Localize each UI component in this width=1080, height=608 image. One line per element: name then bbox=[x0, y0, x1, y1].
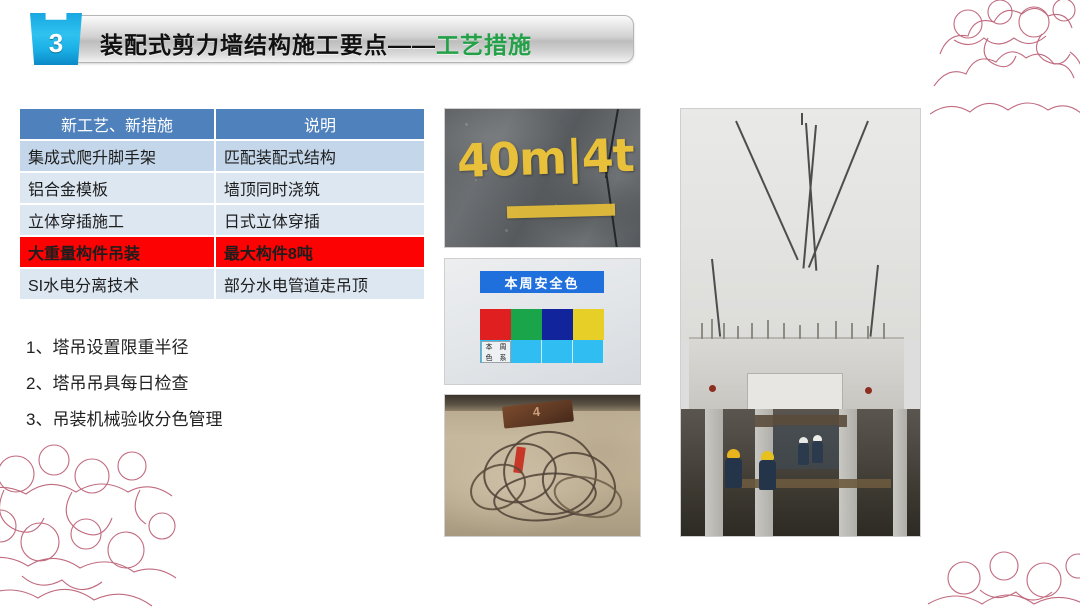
cell-note: 匹配装配式结构 bbox=[216, 141, 424, 171]
photo-safety-color-board: 本周安全色 本 周 色 系 bbox=[444, 258, 641, 385]
cell-method: 铝合金模板 bbox=[20, 173, 214, 203]
section-number-badge: 3 bbox=[30, 13, 82, 65]
section-number-text: 3 bbox=[30, 26, 82, 60]
cell-method: 集成式爬升脚手架 bbox=[20, 141, 214, 171]
site-lower-scene bbox=[681, 409, 920, 536]
cloud-decoration-bottom-right-icon bbox=[924, 508, 1080, 608]
photo-load-marking: 40m|4t bbox=[444, 108, 641, 248]
mini-color-legend: 本 周 色 系 bbox=[481, 341, 511, 363]
cloud-decoration-top-right-icon bbox=[930, 0, 1080, 144]
cell-method: SI水电分离技术 bbox=[20, 269, 214, 299]
swatch-yellow bbox=[573, 309, 604, 340]
board-banner-text: 本周安全色 bbox=[480, 271, 604, 293]
legend-char-1: 本 bbox=[482, 342, 496, 353]
swatch-red bbox=[480, 309, 511, 340]
table-row: 集成式爬升脚手架 匹配装配式结构 bbox=[20, 141, 424, 171]
swatch-navy bbox=[542, 309, 573, 340]
table-header-method: 新工艺、新措施 bbox=[20, 109, 214, 139]
list-item: 1、塔吊设置限重半径 bbox=[26, 330, 222, 366]
legend-char-2: 周 bbox=[496, 342, 510, 353]
table-row: SI水电分离技术 部分水电管道走吊顶 bbox=[20, 269, 424, 299]
table-row: 铝合金模板 墙顶同时浇筑 bbox=[20, 173, 424, 203]
cell-note: 日式立体穿插 bbox=[216, 205, 424, 235]
cell-method: 大重量构件吊装 bbox=[20, 237, 214, 267]
measures-list: 1、塔吊设置限重半径 2、塔吊吊具每日检查 3、吊装机械验收分色管理 bbox=[26, 330, 222, 438]
cell-note: 部分水电管道走吊顶 bbox=[216, 269, 424, 299]
page-title: 装配式剪力墙结构施工要点——工艺措施 bbox=[100, 26, 532, 60]
slide-title-bar: 3 装配式剪力墙结构施工要点——工艺措施 bbox=[14, 13, 634, 65]
photo-panel-hoisting bbox=[680, 108, 921, 537]
color-swatch-row bbox=[480, 309, 604, 340]
list-item: 2、塔吊吊具每日检查 bbox=[26, 366, 222, 402]
cell-note: 墙顶同时浇筑 bbox=[216, 173, 424, 203]
slide-canvas: 3 装配式剪力墙结构施工要点——工艺措施 新工艺、新措施 说明 集成式爬升脚手架… bbox=[0, 0, 1080, 608]
page-title-accent: 工艺措施 bbox=[436, 32, 532, 58]
table-header-row: 新工艺、新措施 说明 bbox=[20, 109, 424, 139]
cloud-decoration-bottom-left-icon bbox=[0, 430, 184, 608]
list-item: 3、吊装机械验收分色管理 bbox=[26, 402, 222, 438]
marking-text: 40m|4t bbox=[456, 128, 635, 188]
legend-char-3: 色 bbox=[482, 353, 496, 364]
cell-method: 立体穿插施工 bbox=[20, 205, 214, 235]
new-methods-table: 新工艺、新措施 说明 集成式爬升脚手架 匹配装配式结构 铝合金模板 墙顶同时浇筑… bbox=[18, 107, 426, 301]
table-header-note: 说明 bbox=[216, 109, 424, 139]
page-title-main: 装配式剪力墙结构施工要点—— bbox=[100, 32, 436, 58]
photo-lifting-rigging bbox=[444, 394, 641, 537]
legend-char-4: 系 bbox=[496, 353, 510, 364]
table-row: 立体穿插施工 日式立体穿插 bbox=[20, 205, 424, 235]
cell-note: 最大构件8吨 bbox=[216, 237, 424, 267]
table-row-highlighted: 大重量构件吊装 最大构件8吨 bbox=[20, 237, 424, 267]
swatch-green bbox=[511, 309, 542, 340]
